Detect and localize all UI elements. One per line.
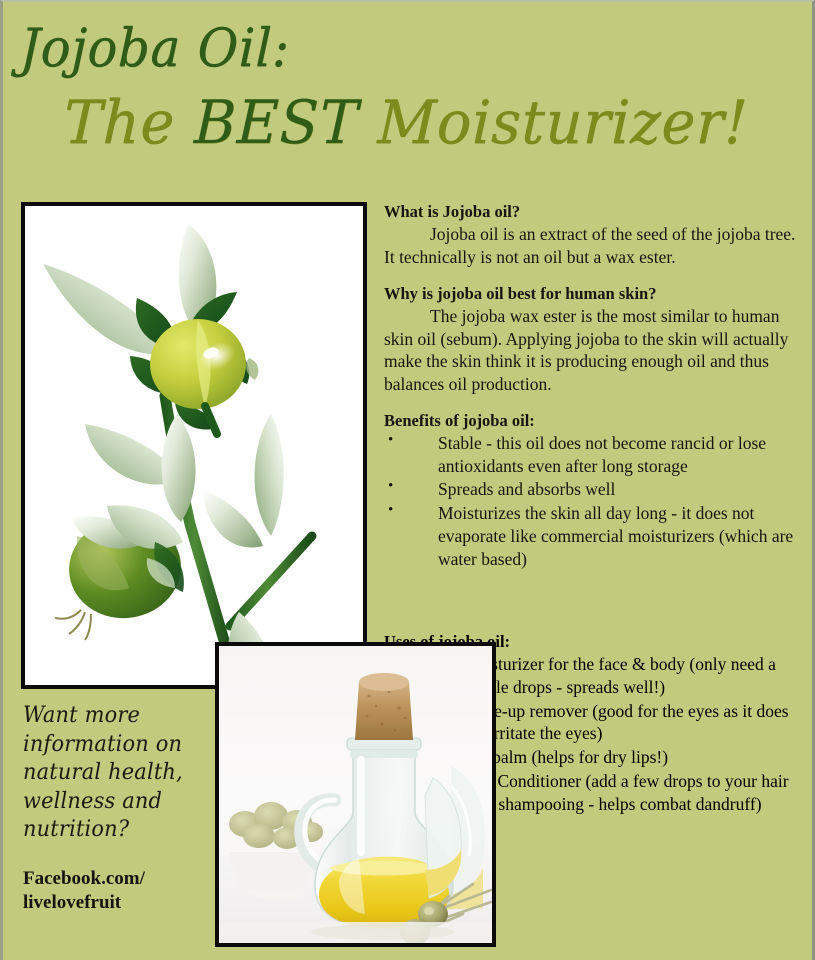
jojoba-plant-illustration xyxy=(25,206,363,685)
section-what-is-jojoba: What is Jojoba oil? Jojoba oil is an ext… xyxy=(384,202,804,269)
main-content: What is Jojoba oil? Jojoba oil is an ext… xyxy=(384,202,804,585)
list-item: Stable - this oil does not become rancid… xyxy=(384,432,804,478)
section-body: Jojoba oil is an extract of the seed of … xyxy=(384,223,804,269)
jojoba-oil-bottle-image xyxy=(215,642,496,947)
promo-question: Want more information on natural health,… xyxy=(23,702,204,845)
facebook-line-2: livelovefruit xyxy=(23,891,213,915)
list-item: Moisturizes the skin all day long - it d… xyxy=(384,502,804,570)
title-line-2-best: BEST xyxy=(193,88,360,158)
title-block: Jojoba Oil: The BEST Moisturizer! xyxy=(3,2,815,187)
benefits-list: Stable - this oil does not become rancid… xyxy=(384,432,804,571)
jojoba-oil-bottle-photo xyxy=(219,646,492,943)
benefits-heading: Benefits of jojoba oil: xyxy=(384,411,804,431)
jojoba-plant-image xyxy=(21,202,367,689)
promo-block: Want more information on natural health,… xyxy=(23,702,213,914)
section-why-best: Why is jojoba oil best for human skin? T… xyxy=(384,284,804,396)
title-line-2-post: Moisturizer! xyxy=(357,88,749,158)
facebook-line-1: Facebook.com/ xyxy=(23,867,213,891)
list-item: Spreads and absorbs well xyxy=(384,478,804,501)
title-line-2-pre: The xyxy=(63,88,196,158)
section-body: The jojoba wax ester is the most similar… xyxy=(384,305,804,396)
section-benefits: Benefits of jojoba oil: Stable - this oi… xyxy=(384,411,804,571)
title-line-1: Jojoba Oil: xyxy=(19,18,291,79)
section-heading: What is Jojoba oil? xyxy=(384,202,804,222)
infographic-page: Jojoba Oil: The BEST Moisturizer! xyxy=(0,0,815,960)
section-heading: Why is jojoba oil best for human skin? xyxy=(384,284,804,304)
facebook-handle: Facebook.com/ livelovefruit xyxy=(23,867,213,915)
title-line-2: The BEST Moisturizer! xyxy=(63,88,750,158)
